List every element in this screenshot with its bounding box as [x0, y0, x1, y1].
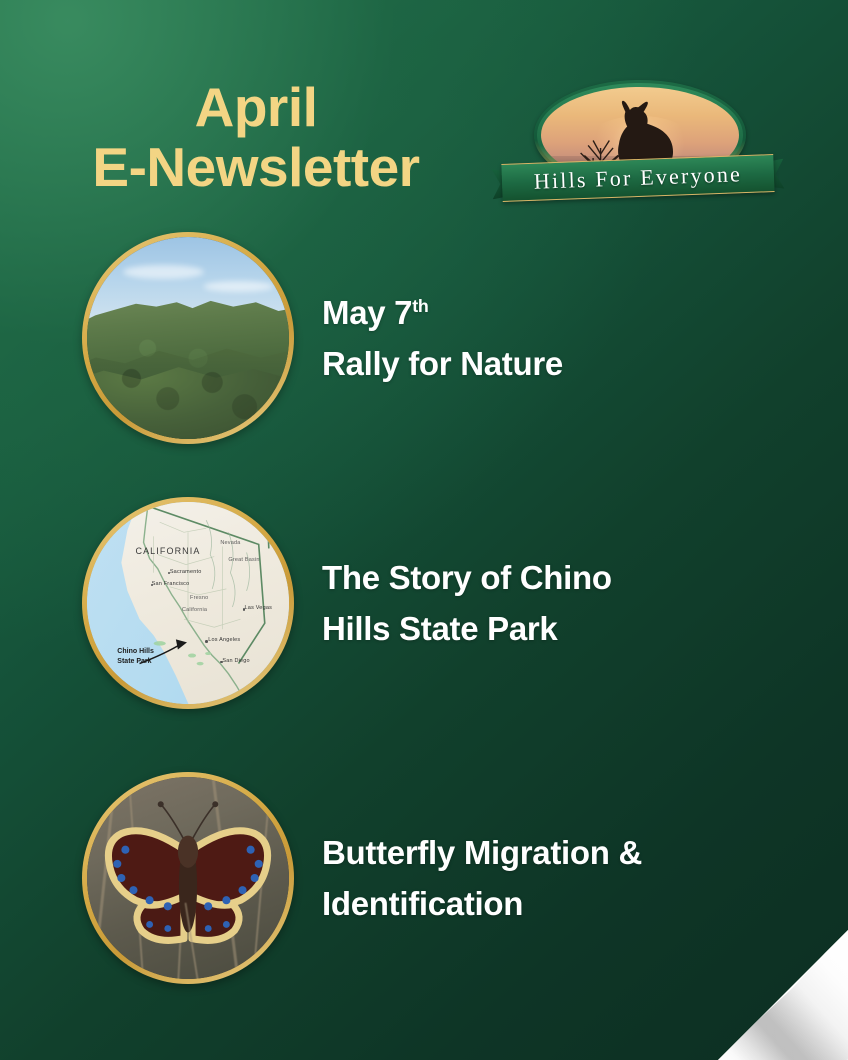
banner-text: Hills For Everyone: [533, 161, 742, 195]
map-label: Great Basin: [228, 557, 259, 563]
map-label: Sacramento: [170, 569, 202, 575]
article-line-1: The Story of Chino: [322, 552, 792, 603]
article-row-rally-for-nature[interactable]: May 7th Rally for Nature: [0, 232, 848, 444]
california-map-photo[interactable]: CALIFORNIA Nevada Great Basin Sacramento…: [82, 497, 294, 709]
butterfly-icon: [87, 777, 289, 979]
hills-landscape-photo[interactable]: [82, 232, 294, 444]
article-line-1: Butterfly Migration &: [322, 827, 792, 878]
map-label: Las Vegas: [245, 605, 273, 611]
article-line-2: Identification: [322, 878, 792, 929]
article-line-2: Hills State Park: [322, 603, 792, 654]
map-label: San Diego: [222, 658, 250, 664]
california-map-photo-inner: CALIFORNIA Nevada Great Basin Sacramento…: [87, 502, 289, 704]
page-title: April E-Newsletter: [0, 78, 512, 198]
map-vectors: [87, 502, 289, 704]
logo-banner: Hills For Everyone: [491, 151, 784, 208]
banner-body: Hills For Everyone: [501, 154, 774, 202]
map-label: California: [182, 607, 207, 613]
article-line-1: May 7th: [322, 287, 792, 338]
map-annotation-chino-hills: Chino Hills State Park: [117, 647, 154, 666]
article-title-chino-hills-state-park: The Story of Chino Hills State Park: [322, 497, 792, 709]
map-label: Los Angeles: [208, 637, 240, 643]
article-title-rally-for-nature: May 7th Rally for Nature: [322, 232, 792, 444]
butterfly-photo[interactable]: [82, 772, 294, 984]
city-dot: [220, 661, 223, 664]
ordinal-suffix: th: [412, 296, 428, 316]
article-row-chino-hills-state-park[interactable]: CALIFORNIA Nevada Great Basin Sacramento…: [0, 497, 848, 709]
foliage-texture: [87, 237, 289, 439]
page-title-line2: E-Newsletter: [0, 138, 512, 198]
article-line-2: Rally for Nature: [322, 338, 792, 389]
hills-for-everyone-logo: Hills For Everyone: [492, 78, 784, 210]
city-dot: [243, 608, 246, 611]
city-dot: [205, 640, 208, 643]
newsletter-header: April E-Newsletter: [0, 0, 848, 232]
page-title-line1: April: [0, 78, 512, 138]
map-label: Nevada: [220, 540, 240, 546]
butterfly-photo-inner: [87, 777, 289, 979]
hills-landscape-photo-inner: [87, 237, 289, 439]
map-label: San Francisco: [152, 581, 190, 587]
newsletter-page: April E-Newsletter: [0, 0, 848, 1060]
map-label: Fresno: [190, 595, 208, 601]
page-curl-corner: [718, 930, 848, 1060]
map-label-california: CALIFORNIA: [135, 546, 200, 556]
